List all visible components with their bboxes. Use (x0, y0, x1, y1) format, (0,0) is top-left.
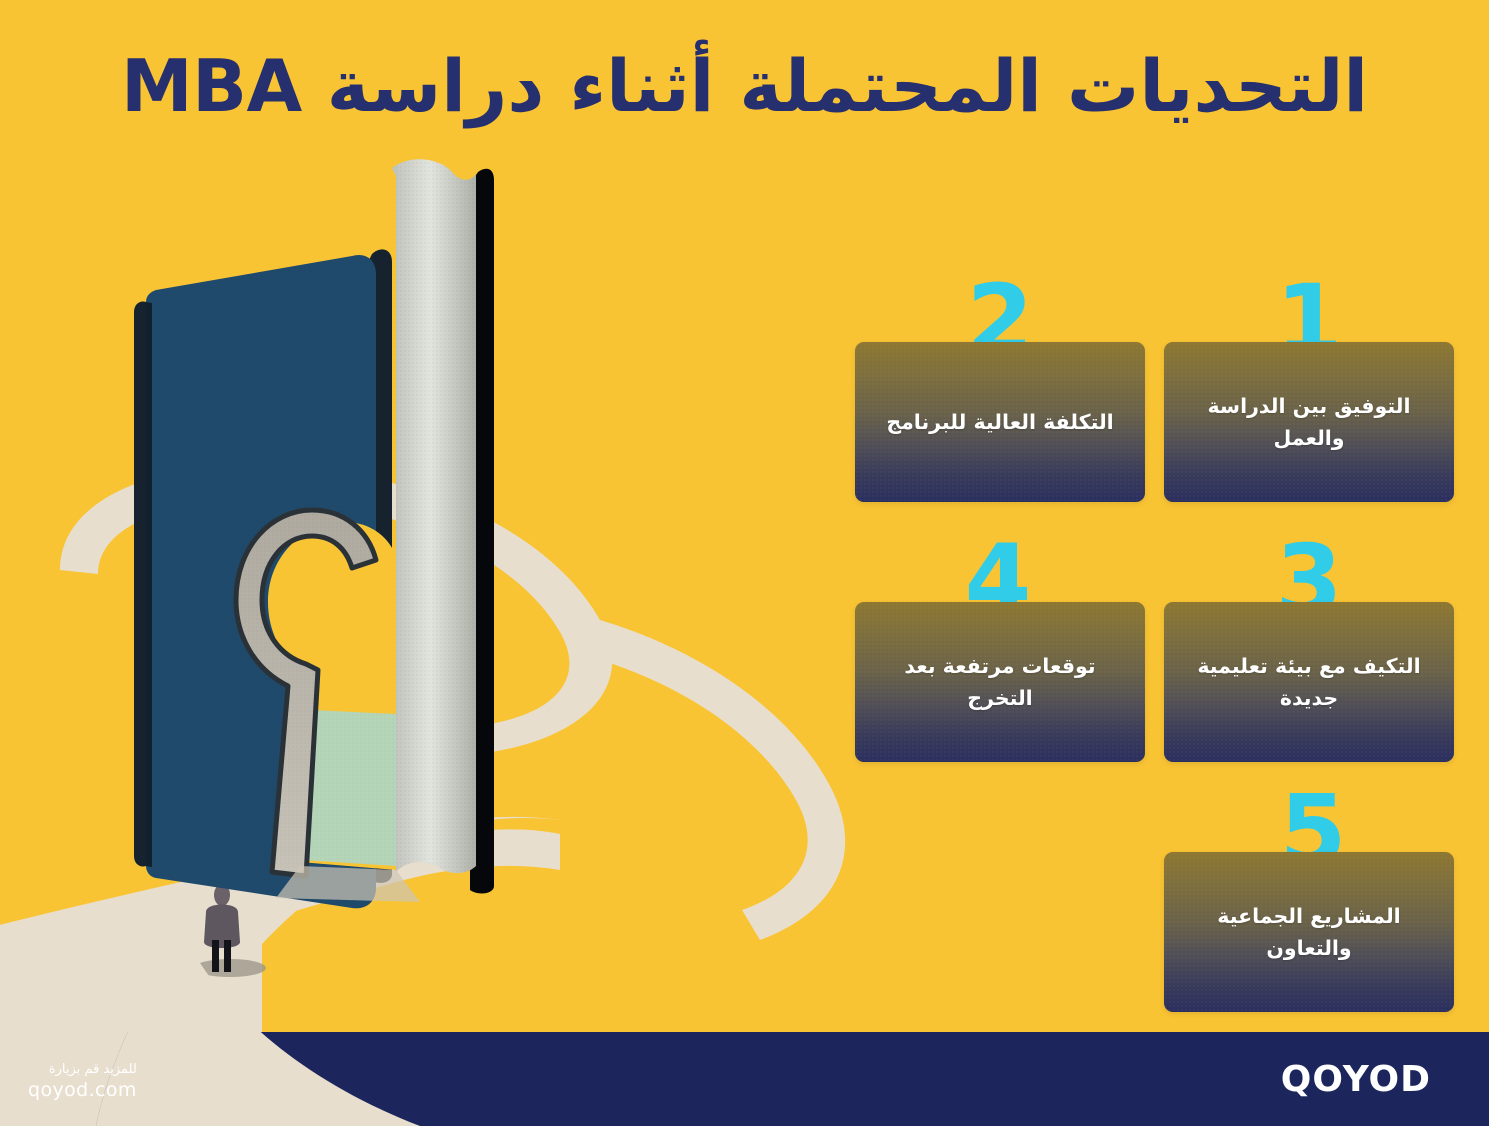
challenge-card-3[interactable]: 3 التكيف مع بيئة تعليمية جديدة (1164, 540, 1454, 760)
challenge-card-5[interactable]: 5 المشاريع الجماعية والتعاون (1164, 790, 1454, 1010)
card-label-4: توقعات مرتفعة بعد التخرج (855, 650, 1145, 715)
page-title: التحديات المحتملة أثناء دراسة MBA (0, 44, 1489, 129)
card-body-4[interactable]: توقعات مرتفعة بعد التخرج (855, 602, 1145, 762)
challenge-card-4[interactable]: 4 توقعات مرتفعة بعد التخرج (855, 540, 1145, 760)
footer-visit-note: للمزيد قم بزيارة qoyod.com (28, 1061, 137, 1104)
infographic-poster: التحديات المحتملة أثناء دراسة MBA (0, 0, 1489, 1126)
card-label-2: التكلفة العالية للبرنامج (868, 406, 1131, 438)
challenge-card-1[interactable]: 1 التوفيق بين الدراسة والعمل (1164, 280, 1454, 500)
book-keyhole-illustration (0, 150, 880, 1080)
footer-note-line2[interactable]: qoyod.com (28, 1078, 137, 1104)
path-right-sweep (588, 620, 845, 940)
card-body-5[interactable]: المشاريع الجماعية والتعاون (1164, 852, 1454, 1012)
qoyod-logo: QOYOD (1281, 1059, 1431, 1100)
footer-band (0, 1032, 1489, 1126)
card-label-1: التوفيق بين الدراسة والعمل (1164, 390, 1454, 455)
card-label-3: التكيف مع بيئة تعليمية جديدة (1164, 650, 1454, 715)
card-body-3[interactable]: التكيف مع بيئة تعليمية جديدة (1164, 602, 1454, 762)
footer-note-line1: للمزيد قم بزيارة (28, 1061, 137, 1079)
book-spine-left-inner (146, 302, 152, 867)
challenge-card-2[interactable]: 2 التكلفة العالية للبرنامج (855, 280, 1145, 500)
book-spine-left (134, 301, 146, 866)
card-body-1[interactable]: التوفيق بين الدراسة والعمل (1164, 342, 1454, 502)
card-body-2[interactable]: التكلفة العالية للبرنامج (855, 342, 1145, 502)
illustration-svg (0, 150, 880, 1080)
card-label-5: المشاريع الجماعية والتعاون (1164, 900, 1454, 965)
qoyod-logo-text: QOYOD (1281, 1059, 1431, 1100)
challenge-cards-grid: 1 التوفيق بين الدراسة والعمل 2 التكلفة ا… (852, 218, 1464, 958)
